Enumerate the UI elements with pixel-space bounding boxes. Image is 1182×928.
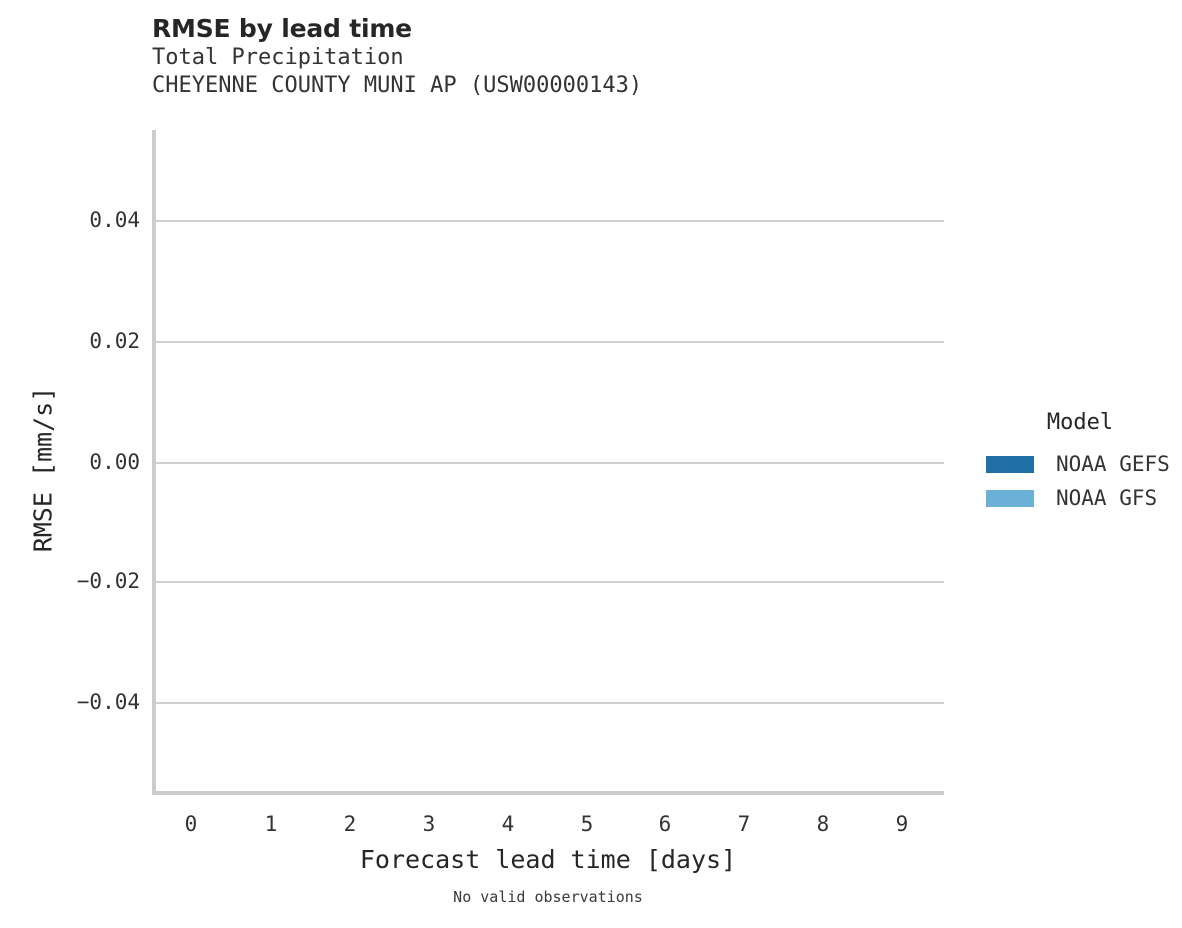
no-data-note: No valid observations [152, 888, 944, 906]
chart-title: RMSE by lead time [152, 14, 972, 44]
x-tick-label: 9 [896, 812, 909, 836]
legend-item[interactable]: NOAA GFS [986, 481, 1182, 515]
x-tick-label: 3 [423, 812, 436, 836]
x-axis-line [152, 791, 944, 795]
legend-swatch [986, 490, 1034, 507]
chart-subtitle-variable: Total Precipitation [152, 44, 972, 72]
x-tick-label: 2 [344, 812, 357, 836]
legend-entries: NOAA GEFSNOAA GFS [986, 447, 1182, 515]
legend-swatch [986, 456, 1034, 473]
y-tick-labels: 0.040.020.00−0.02−0.04 [0, 0, 140, 928]
legend-item[interactable]: NOAA GEFS [986, 447, 1182, 481]
x-tick-label: 1 [265, 812, 278, 836]
gridline [152, 702, 944, 704]
y-tick-label: 0.04 [89, 208, 140, 232]
y-axis-title: RMSE [mm/s] [29, 270, 58, 670]
gridline [152, 581, 944, 583]
legend: Model NOAA GEFSNOAA GFS [986, 410, 1182, 515]
gridline [152, 462, 944, 464]
gridline [152, 220, 944, 222]
x-tick-label: 4 [502, 812, 515, 836]
x-tick-label: 8 [817, 812, 830, 836]
y-tick-label: −0.02 [77, 569, 140, 593]
x-axis-title: Forecast lead time [days] [152, 845, 944, 874]
x-tick-label: 5 [581, 812, 594, 836]
y-tick-label: −0.04 [77, 690, 140, 714]
chart-subtitle-station: CHEYENNE COUNTY MUNI AP (USW00000143) [152, 72, 972, 100]
y-tick-label: 0.02 [89, 329, 140, 353]
title-block: RMSE by lead time Total Precipitation CH… [152, 14, 972, 100]
gridline [152, 341, 944, 343]
x-tick-label: 7 [738, 812, 751, 836]
x-tick-label: 6 [659, 812, 672, 836]
legend-label: NOAA GFS [1056, 486, 1157, 510]
plot-area [152, 130, 944, 793]
legend-label: NOAA GEFS [1056, 452, 1170, 476]
x-tick-label: 0 [185, 812, 198, 836]
legend-title: Model [992, 410, 1168, 435]
y-axis-line [152, 130, 156, 795]
y-tick-label: 0.00 [89, 450, 140, 474]
